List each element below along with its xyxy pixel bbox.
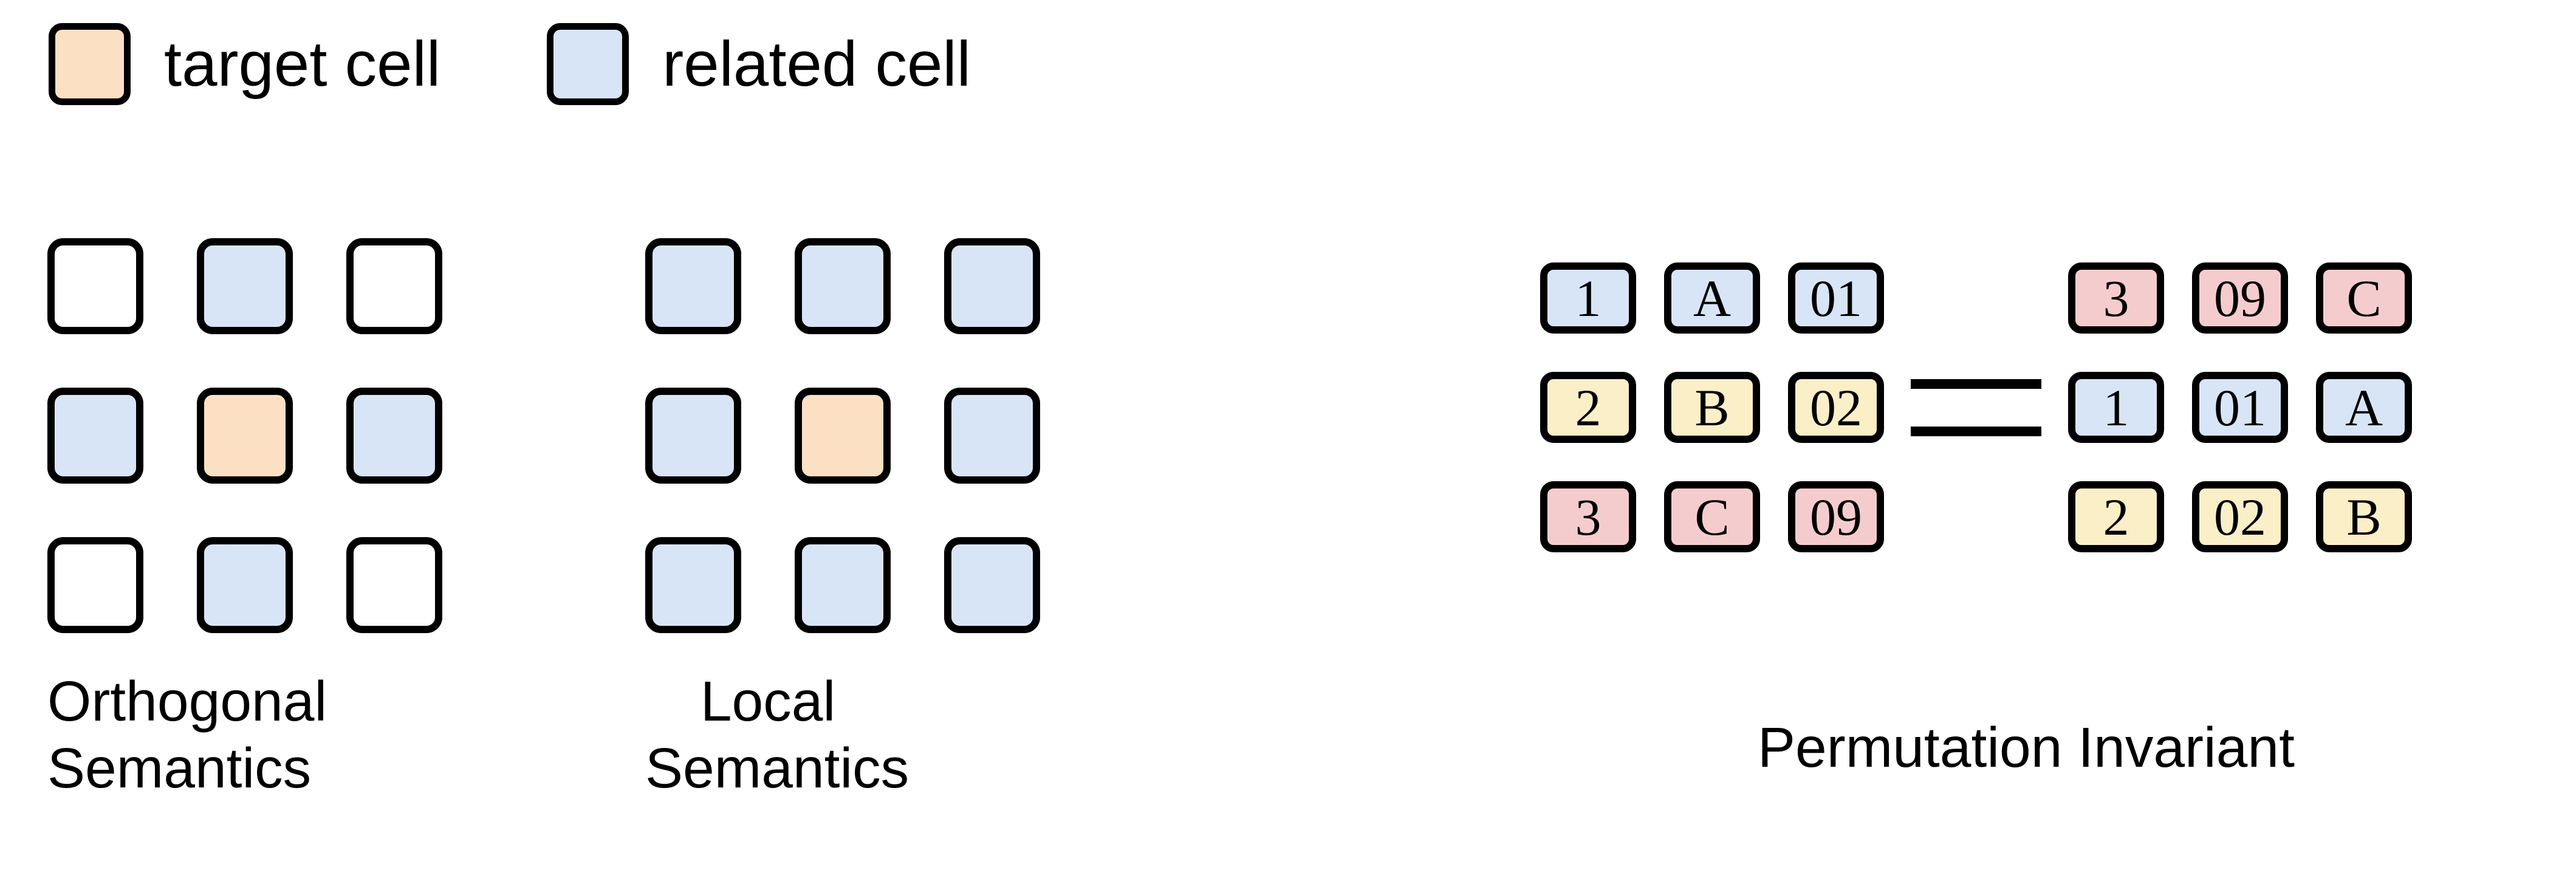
matrix-tile: 09 [2192,262,2288,334]
left-matrix: 1A012B023C09 [1540,262,1884,552]
matrix-tile: A [2316,372,2412,443]
legend-label-related: related cell [662,32,971,96]
matrix-tile: 1 [2068,372,2164,443]
matrix-tile: 2 [1540,372,1636,443]
matrix-tile: 02 [2192,481,2288,552]
semantic-cell-related [645,388,741,484]
semantic-cell-related [47,388,143,484]
semantic-cell-target [795,388,891,484]
matrix-tile: 3 [1540,481,1636,552]
caption-line-2: Semantics [645,735,891,802]
permutation-comparison-row: 1A012B023C09 309C101A202B [1540,262,2412,552]
semantic-cell-related [944,388,1040,484]
matrix-tile: 2 [2068,481,2164,552]
semantic-cell-related [197,537,293,633]
caption-line-1: Local [645,668,891,735]
caption-line-2: Semantics [47,735,293,802]
orthogonal-semantics-caption: Orthogonal Semantics [47,668,293,801]
matrix-tile: 01 [1788,262,1884,334]
semantic-cell-related [346,388,442,484]
semantic-cell-related [645,537,741,633]
legend: target cell related cell [49,23,971,105]
semantic-cell-empty [47,238,143,334]
permutation-invariant-caption: Permutation Invariant [1540,719,2512,776]
right-matrix: 309C101A202B [2068,262,2412,552]
semantic-cell-empty [346,238,442,334]
local-semantics-caption: Local Semantics [645,668,891,801]
related-cell-swatch [547,23,629,105]
matrix-tile: C [1664,481,1760,552]
semantic-cell-related [944,238,1040,334]
matrix-tile: C [2316,262,2412,334]
matrix-tile: B [1664,372,1760,443]
matrix-tile: B [2316,481,2412,552]
matrix-tile: 1 [1540,262,1636,334]
semantic-cell-empty [346,537,442,633]
equals-sign-icon [1911,372,2041,443]
diagram-canvas: target cell related cell Orthogonal Sema… [0,0,2576,881]
orthogonal-semantics-block: Orthogonal Semantics [47,238,442,801]
equals-bar-top [1911,379,2041,389]
matrix-tile: 01 [2192,372,2288,443]
semantic-cell-empty [47,537,143,633]
semantic-cell-related [944,537,1040,633]
legend-entry-related: related cell [547,23,971,105]
matrix-tile: A [1664,262,1760,334]
semantic-cell-related [197,238,293,334]
matrix-tile: 3 [2068,262,2164,334]
matrix-tile: 02 [1788,372,1884,443]
semantic-cell-target [197,388,293,484]
local-semantics-block: Local Semantics [645,238,1040,801]
semantic-cell-related [795,238,891,334]
caption-line-1: Orthogonal [47,668,293,735]
semantic-cell-related [645,238,741,334]
matrix-tile: 09 [1788,481,1884,552]
equals-bar-bottom [1911,427,2041,436]
semantic-cell-related [795,537,891,633]
permutation-invariant-block: 1A012B023C09 309C101A202B [1540,262,2412,552]
target-cell-swatch [49,23,131,105]
local-semantics-grid [645,238,1040,633]
orthogonal-semantics-grid [47,238,442,633]
legend-entry-target: target cell [49,23,440,105]
legend-label-target: target cell [164,32,440,96]
